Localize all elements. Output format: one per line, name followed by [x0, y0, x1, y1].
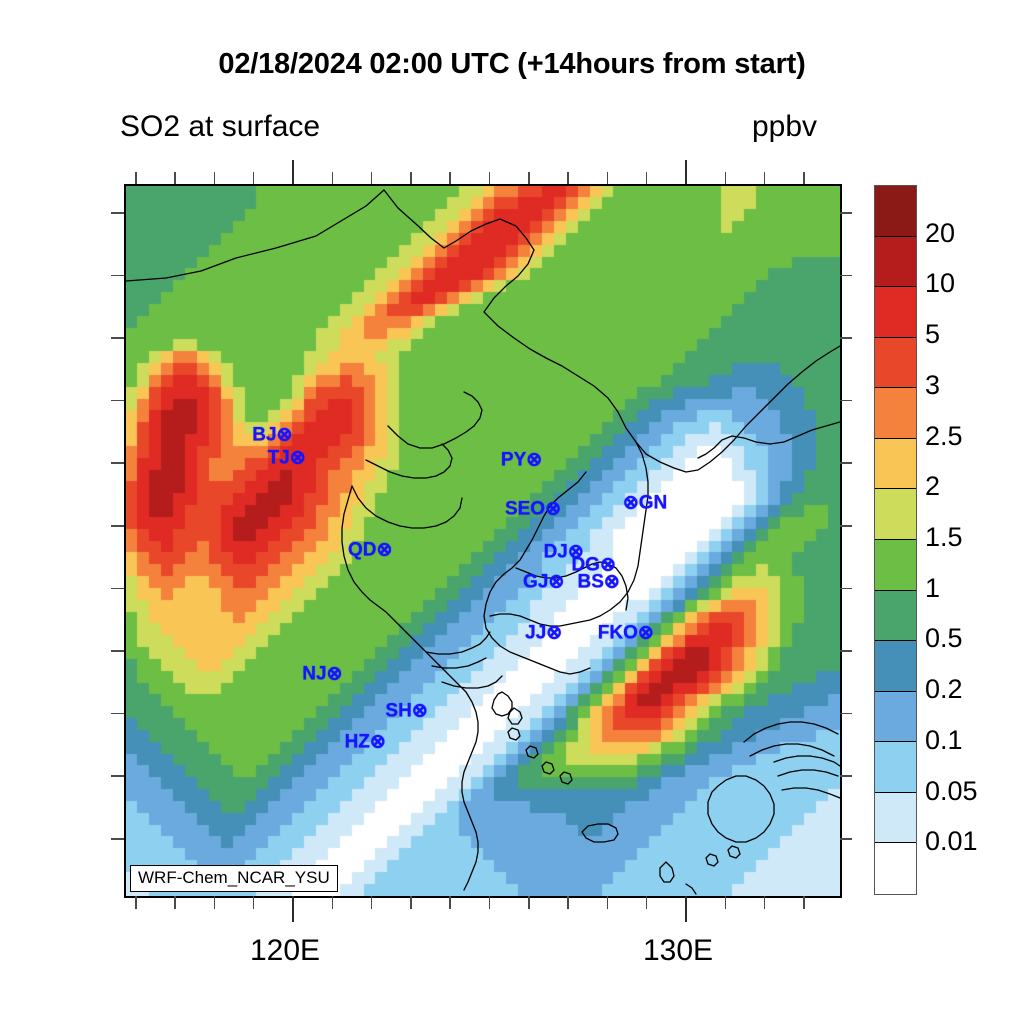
city-marker-seo: SEO⊗ — [505, 500, 561, 519]
colorbar-label-0.5: 0.5 — [925, 623, 963, 654]
units-label: ppbv — [752, 110, 817, 144]
x-axis-label-120E: 120E — [250, 934, 320, 968]
x-tick-top — [449, 172, 451, 184]
city-marker-hz: HZ⊗ — [345, 732, 386, 751]
x-tick-top — [528, 172, 530, 184]
colorbar-label-1: 1 — [925, 573, 940, 604]
x-tick-top — [214, 172, 216, 184]
x-tick — [607, 896, 609, 909]
x-tick — [253, 896, 255, 909]
x-tick — [214, 896, 216, 909]
colorbar-label-2.5: 2.5 — [925, 421, 963, 452]
city-marker-nj: NJ⊗ — [302, 665, 342, 684]
x-tick — [764, 896, 766, 909]
x-tick — [174, 896, 176, 909]
colorbar-band-12 — [875, 237, 916, 288]
colorbar-band-7 — [875, 489, 916, 540]
x-tick — [135, 896, 137, 909]
x-tick-top — [685, 160, 687, 184]
city-marker-gj: GJ⊗ — [523, 573, 564, 592]
x-tick-major — [685, 896, 687, 922]
x-tick-top — [646, 172, 648, 184]
x-tick-top — [174, 172, 176, 184]
y-tick-right — [840, 775, 852, 777]
variable-label: SO2 at surface — [120, 110, 320, 144]
x-tick — [646, 896, 648, 909]
city-marker-sh: SH⊗ — [385, 702, 427, 721]
y-tick — [111, 588, 124, 590]
colorbar-label-0.01: 0.01 — [925, 826, 978, 857]
colorbar-label-5: 5 — [925, 319, 940, 350]
colorbar-band-2 — [875, 742, 916, 793]
colorbar-label-1.5: 1.5 — [925, 522, 963, 553]
x-tick-top — [292, 160, 294, 184]
y-tick — [111, 650, 124, 652]
y-tick-right — [840, 275, 852, 277]
map-plot-area: BJ⊗TJ⊗QD⊗NJ⊗SH⊗HZ⊗PY⊗SEO⊗⊗GNDJ⊗DG⊗GJ⊗BS⊗… — [124, 184, 842, 898]
colorbar-band-1 — [875, 793, 916, 844]
colorbar-label-10: 10 — [925, 268, 955, 299]
y-tick-right — [840, 525, 852, 527]
x-tick — [528, 896, 530, 909]
x-tick — [371, 896, 373, 909]
city-marker-bs: BS⊗ — [577, 573, 619, 592]
x-tick-top — [567, 172, 569, 184]
y-tick — [111, 525, 124, 527]
x-tick-top — [410, 172, 412, 184]
y-tick-right — [840, 462, 852, 464]
x-tick-top — [725, 172, 727, 184]
colorbar-label-0.2: 0.2 — [925, 674, 963, 705]
y-tick — [111, 275, 124, 277]
x-axis-label-130E: 130E — [643, 934, 713, 968]
colorbar-band-10 — [875, 338, 916, 389]
colorbar-label-20: 20 — [925, 218, 955, 249]
x-tick — [803, 896, 805, 909]
colorbar-label-0.1: 0.1 — [925, 725, 963, 756]
y-tick — [111, 400, 124, 402]
colorbar-band-5 — [875, 591, 916, 642]
colorbar-band-3 — [875, 692, 916, 743]
colorbar-label-2: 2 — [925, 471, 940, 502]
y-tick — [111, 462, 124, 464]
x-tick-top — [332, 172, 334, 184]
colorbar-band-6 — [875, 540, 916, 591]
city-marker-qd: QD⊗ — [348, 541, 392, 560]
city-markers-layer: BJ⊗TJ⊗QD⊗NJ⊗SH⊗HZ⊗PY⊗SEO⊗⊗GNDJ⊗DG⊗GJ⊗BS⊗… — [126, 186, 840, 896]
city-marker-tj: TJ⊗ — [268, 448, 306, 467]
so2-surface-map-figure: 02/18/2024 02:00 UTC (+14hours from star… — [0, 0, 1024, 1024]
x-tick-top — [803, 172, 805, 184]
y-tick-right — [840, 838, 852, 840]
city-marker-jj: JJ⊗ — [525, 623, 562, 642]
colorbar-band-4 — [875, 641, 916, 692]
model-attribution-box: WRF-Chem_NCAR_YSU — [130, 865, 338, 892]
x-tick-top — [764, 172, 766, 184]
x-tick — [410, 896, 412, 909]
colorbar-band-0 — [875, 843, 916, 894]
y-tick-right — [840, 713, 852, 715]
y-tick-right — [840, 400, 852, 402]
page-title: 02/18/2024 02:00 UTC (+14hours from star… — [0, 48, 1024, 81]
y-tick — [111, 775, 124, 777]
y-tick — [111, 838, 124, 840]
x-tick — [567, 896, 569, 909]
colorbar-band-11 — [875, 287, 916, 338]
y-tick — [111, 713, 124, 715]
y-tick — [111, 212, 124, 214]
colorbar-band-8 — [875, 439, 916, 490]
city-marker-gn: ⊗GN — [623, 494, 667, 513]
y-tick-right — [840, 650, 852, 652]
x-tick-top — [371, 172, 373, 184]
x-tick-top — [607, 172, 609, 184]
x-tick-top — [135, 172, 137, 184]
x-tick — [449, 896, 451, 909]
y-tick-right — [840, 588, 852, 590]
colorbar-band-9 — [875, 388, 916, 439]
y-tick-right — [840, 212, 852, 214]
x-tick — [489, 896, 491, 909]
x-tick-major — [292, 896, 294, 922]
city-marker-py: PY⊗ — [501, 451, 542, 470]
colorbar-label-3: 3 — [925, 370, 940, 401]
x-tick — [725, 896, 727, 909]
colorbar — [874, 185, 917, 895]
x-tick-top — [253, 172, 255, 184]
x-tick-top — [489, 172, 491, 184]
city-marker-fko: FKO⊗ — [598, 623, 654, 642]
colorbar-label-0.05: 0.05 — [925, 776, 978, 807]
x-tick — [332, 896, 334, 909]
y-tick-right — [840, 337, 852, 339]
city-marker-bj: BJ⊗ — [252, 425, 292, 444]
colorbar-band-13 — [875, 186, 916, 237]
y-tick — [111, 337, 124, 339]
